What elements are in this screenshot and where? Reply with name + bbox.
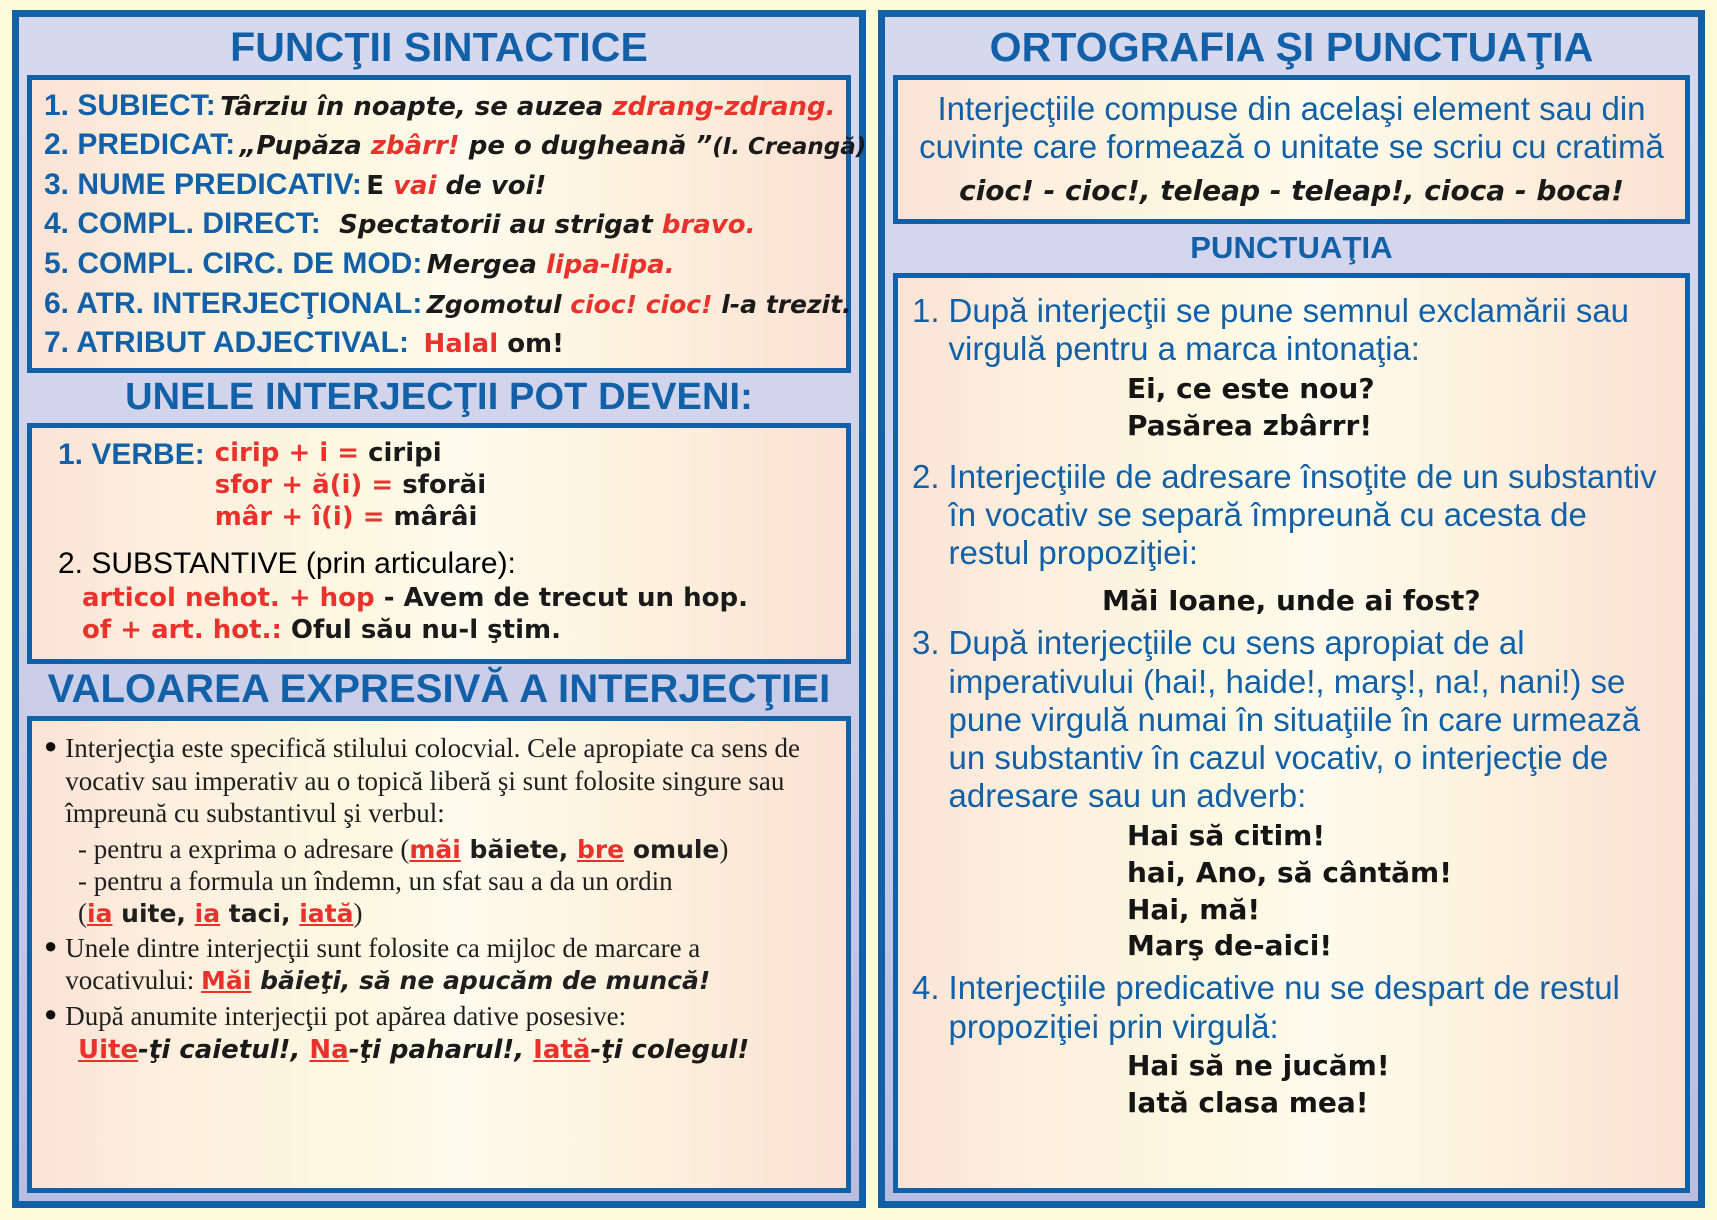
row-plain: Spectatorii au strigat [339,210,662,240]
unele-interjectii-box: 1. VERBE: cirip + i = ciripi sfor + ă(i)… [27,423,851,664]
list-item: 1. După interjecţii se pune semnul excla… [912,292,1671,369]
row-highlight: bravo. [662,210,756,240]
rule-number: 4. [912,969,940,1046]
sub-highlight: iată [299,899,353,928]
dative-rest: -ţi paharul!, [349,1035,533,1065]
right-column: ORTOGRAFIA ŞI PUNCTUAŢIA Interjecţiile c… [878,10,1705,1208]
rule-number: 2. [912,458,940,573]
sub-mid: omule [624,835,719,864]
ortografia-body: Interjecţiile compuse din acelaşi elemen… [912,90,1671,167]
dative-highlight: Na [309,1035,348,1065]
bullet-highlight: Măi [201,966,251,995]
rule-example: Hai să citim! [1127,818,1671,855]
row-label: 5. COMPL. CIRC. DE MOD: [44,247,422,280]
sub-item: - pentru a exprima o adresare (măi băiet… [78,833,832,865]
rule-number: 3. [912,624,940,815]
bullet-text: După anumite interjecţii pot apărea dati… [65,1000,626,1032]
sub-highlight: ia [87,899,112,928]
verbe-group: 1. VERBE: cirip + i = ciripi sfor + ă(i)… [58,438,834,533]
row-highlight: cioc! cioc! [570,290,712,319]
list-item: 4. Interjecţiile predicative nu se despa… [912,969,1671,1046]
table-row: 4. COMPL. DIRECT: Spectatorii au strigat… [44,207,834,241]
row-citation: (I. Creangă) [712,134,866,160]
rule-example: Iată clasa mea! [1127,1085,1671,1122]
section-header-valoarea-expresiva: VALOAREA EXPRESIVĂ A INTERJECŢIEI [27,664,851,717]
row-highlight: Halal [423,329,498,359]
row-tail: om! [498,329,564,359]
ortografia-example: cioc! - cioc!, teleap - teleap!, cioca -… [912,174,1671,207]
sub-mid: uite, [112,899,194,928]
section-header-punctuatia: PUNCTUAŢIA [893,224,1690,273]
ortografia-box: Interjecţiile compuse din acelaşi elemen… [893,75,1690,224]
substantive-example: Oful său nu-l ştim. [282,615,561,645]
dative-highlight: Uite [78,1035,138,1065]
list-item: ● Interjecţia este specifică stilului co… [44,732,832,829]
row-label: 1. SUBIECT: [44,89,216,122]
list-item: mâr + î(i) = mârâi [215,502,486,534]
rule-text: După interjecţii se pune semnul exclamăr… [949,292,1671,369]
list-item: articol nehot. + hop - Avem de trecut un… [82,583,834,615]
bullet-icon: ● [44,732,57,829]
verbe-formula: sfor + ă(i) = [215,470,393,500]
substantive-formula: of + art. hot.: [82,615,282,645]
row-label: 6. ATR. INTERJECŢIONAL: [44,287,422,320]
row-plain: „Pupăza [240,131,371,161]
rule-example: Hai să ne jucăm! [1127,1048,1671,1085]
row-plain: Târziu în noapte, se auzea [220,92,612,122]
rule-example: Pasărea zbârrr! [1127,408,1671,445]
sub-mid: taci, [220,899,299,928]
row-plain: Zgomotul [427,290,570,319]
table-row: 7. ATRIBUT ADJECTIVAL: Halal om! [44,326,834,360]
row-highlight: vai [393,171,436,201]
sub-pre: ( [78,898,87,928]
dative-highlight: Iată [533,1035,590,1065]
substantive-example: - Avem de trecut un hop. [375,583,748,613]
row-tail: pe o dugheană ” [460,131,713,161]
list-item: ● După anumite interjecţii pot apărea da… [44,1000,832,1032]
sub-mid: băiete, [461,835,577,864]
row-highlight: lipa-lipa. [546,250,675,280]
poster-root: FUNCŢII SINTACTICE 1. SUBIECT: Târziu în… [0,0,1717,1220]
dative-examples: Uite-ţi caietul!, Na-ţi paharul!, Iată-ţ… [78,1035,832,1065]
verbe-result: ciripi [359,438,442,468]
sub-pre: - pentru a exprima o adresare ( [78,834,409,864]
list-item: of + art. hot.: Oful său nu-l ştim. [82,615,834,647]
rule-text: După interjecţiile cu sens apropiat de a… [949,624,1671,815]
sub-pre: - pentru a formula un îndemn, un sfat sa… [78,866,673,896]
list-item: 2. Interjecţiile de adresare însoţite de… [912,458,1671,573]
sub-post: ) [719,834,728,864]
table-row: 1. SUBIECT: Târziu în noapte, se auzea z… [44,89,834,123]
row-highlight: zdrang-zdrang. [612,92,835,122]
rule-example: Hai, mă! [1127,892,1671,929]
list-item: cirip + i = ciripi [215,438,486,470]
row-highlight: zbârr! [371,131,460,161]
list-item: ● Unele dintre interjecţii sunt folosite… [44,932,832,997]
sub-post: ) [353,898,362,928]
bullet-icon: ● [44,1000,57,1032]
bullet-text: Unele dintre interjecţii sunt folosite c… [65,932,832,997]
table-row: 2. PREDICAT: „Pupăza zbârr! pe o dughean… [44,128,834,162]
row-label: 2. PREDICAT: [44,128,235,161]
dative-rest: -ţi caietul!, [138,1035,309,1065]
rule-example: Marş de-aici! [1127,928,1671,965]
section-header-ortografia: ORTOGRAFIA ŞI PUNCTUAŢIA [893,21,1690,75]
rule-text: Interjecţiile de adresare însoţite de un… [949,458,1671,573]
table-row: 3. NUME PREDICATIV: E vai de voi! [44,168,834,202]
section-header-functii-sintactice: FUNCŢII SINTACTICE [27,21,851,75]
sub-highlight: măi [409,835,461,864]
verbe-label: 1. VERBE: [58,438,205,472]
rule-number: 1. [912,292,940,369]
section-header-unele-interjectii: UNELE INTERJECŢII POT DEVENI: [27,373,851,424]
sub-highlight: ia [195,899,220,928]
row-plain: Mergea [427,250,546,280]
table-row: 5. COMPL. CIRC. DE MOD: Mergea lipa-lipa… [44,247,834,281]
left-column: FUNCŢII SINTACTICE 1. SUBIECT: Târziu în… [12,10,866,1208]
list-item: 3. După interjecţiile cu sens apropiat d… [912,624,1671,815]
rule-example: hai, Ano, să cântăm! [1127,855,1671,892]
row-tail: l-a trezit. [713,290,852,319]
rule-text: Interjecţiile predicative nu se despart … [949,969,1671,1046]
sub-highlight: bre [577,835,624,864]
verbe-list: cirip + i = ciripi sfor + ă(i) = sforăi … [215,438,486,533]
dative-rest: -ţi colegul! [590,1035,749,1065]
substantive-label: 2. SUBSTANTIVE (prin articulare): [58,547,834,581]
list-item: sfor + ă(i) = sforăi [215,470,486,502]
functii-sintactice-box: 1. SUBIECT: Târziu în noapte, se auzea z… [27,75,851,373]
substantive-formula: articol nehot. + hop [82,583,375,613]
row-label: 3. NUME PREDICATIV: [44,168,362,201]
table-row: 6. ATR. INTERJECŢIONAL: Zgomotul cioc! c… [44,287,834,321]
row-plain: E [366,171,393,201]
sub-item: (ia uite, ia taci, iată) [78,897,832,929]
bullet-text: Interjecţia este specifică stilului colo… [65,732,832,829]
row-label: 7. ATRIBUT ADJECTIVAL: [44,326,409,359]
rule-example: Ei, ce este nou? [1127,371,1671,408]
verbe-formula: cirip + i = [215,438,359,468]
punctuatia-box: 1. După interjecţii se pune semnul excla… [893,273,1690,1193]
bullet-icon: ● [44,932,57,997]
verbe-result: sforăi [393,470,486,500]
verbe-formula: mâr + î(i) = [215,502,385,532]
sub-item: - pentru a formula un îndemn, un sfat sa… [78,865,832,897]
bullet-example: băieţi, să ne apucăm de muncă! [251,966,710,995]
rule-example: Măi Ioane, unde ai fost? [1102,583,1671,620]
row-label: 4. COMPL. DIRECT: [44,207,321,240]
verbe-result: mârâi [385,502,478,532]
valoarea-expresiva-box: ● Interjecţia este specifică stilului co… [27,716,851,1193]
row-tail: de voi! [436,171,546,201]
